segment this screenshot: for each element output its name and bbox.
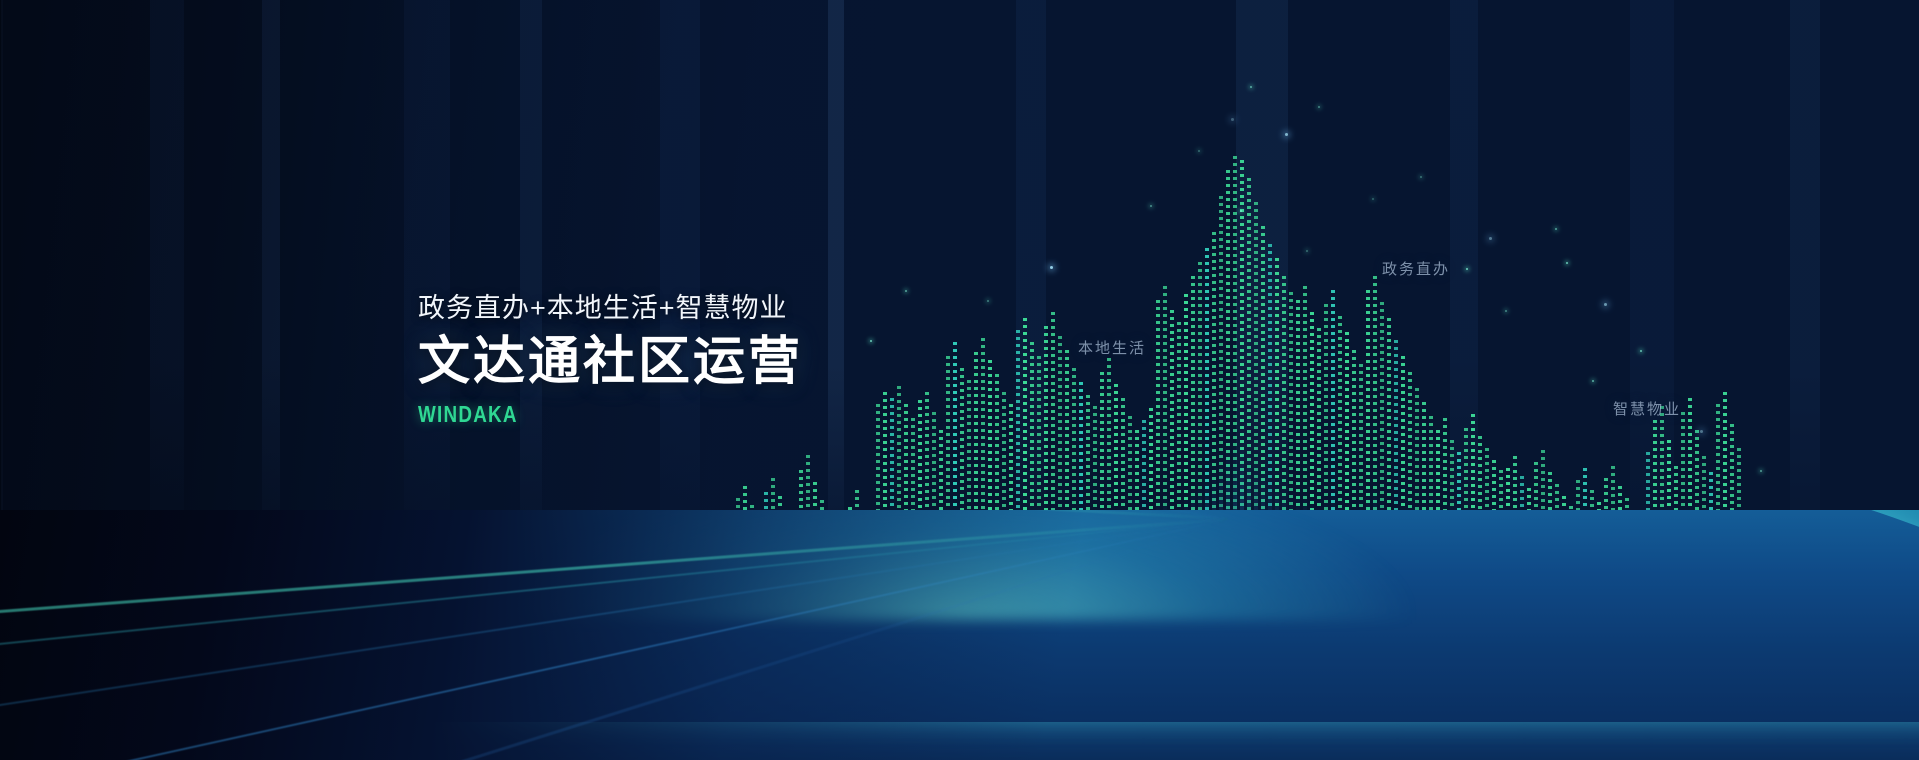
sparkle-dot xyxy=(1318,106,1320,108)
sparkle-dot xyxy=(1555,228,1557,230)
sparkle-dot xyxy=(1285,133,1288,136)
sparkle-dot xyxy=(1231,118,1234,121)
hero-banner: 本地生活政务直办智慧物业 政务直办+本地生活+智慧物业 文达通社区运营 WIND… xyxy=(0,0,1919,760)
sparkle-dot xyxy=(1489,237,1492,240)
banner-title: 文达通社区运营 xyxy=(418,336,803,388)
ground-plane xyxy=(0,510,1919,760)
sparkle-dot xyxy=(1150,205,1152,207)
sparkle-dot xyxy=(987,300,989,302)
sparkle-dot xyxy=(1604,303,1607,306)
sparkle-dot xyxy=(1505,310,1507,312)
sparkle-dot xyxy=(1372,198,1374,200)
sparkle-dot xyxy=(1466,268,1468,270)
banner-subtitle: 政务直办+本地生活+智慧物业 xyxy=(418,295,803,322)
sparkle-dot xyxy=(1198,150,1200,152)
brand-wordmark: WINDAKA xyxy=(418,403,734,426)
sparkle-dot xyxy=(1566,262,1568,264)
sparkle-dot xyxy=(1306,250,1308,252)
sparkle-dot xyxy=(1700,430,1703,433)
sparkle-dot xyxy=(1050,266,1053,269)
sparkle-dot xyxy=(1240,210,1242,212)
headline-copy-block: 政务直办+本地生活+智慧物业 文达通社区运营 WINDAKA xyxy=(418,295,803,426)
city-label-3: 智慧物业 xyxy=(1613,398,1681,419)
ground-left-shadow xyxy=(0,510,1190,760)
city-label-2: 政务直办 xyxy=(1382,258,1450,279)
sparkle-dot xyxy=(1250,86,1252,88)
city-label-1: 本地生活 xyxy=(1078,337,1146,358)
sparkle-dot xyxy=(905,290,907,292)
sparkle-dot xyxy=(1420,176,1422,178)
sparkle-dot xyxy=(870,340,872,342)
sparkle-dot xyxy=(1592,380,1594,382)
sparkle-dot xyxy=(1640,350,1642,352)
sparkle-dot xyxy=(1760,470,1762,472)
